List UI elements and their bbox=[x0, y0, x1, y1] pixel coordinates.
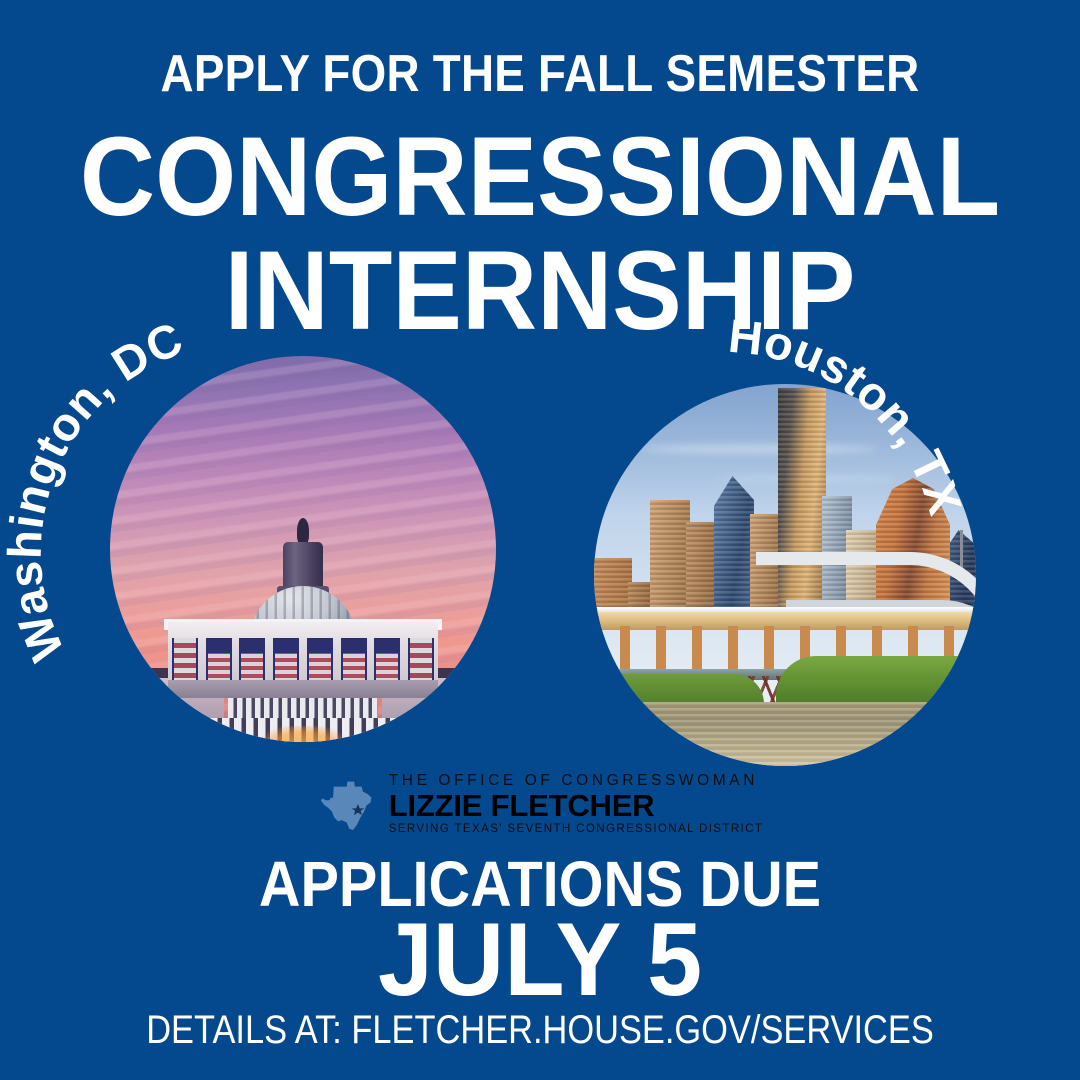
texas-shape bbox=[320, 782, 371, 830]
eyebrow-text: APPLY FOR THE FALL SEMESTER bbox=[65, 0, 1015, 100]
washington-dc-label-text: Washington, DC bbox=[0, 311, 190, 668]
houston-tx-label-text: Houston, TX bbox=[726, 309, 972, 521]
texas-state-icon bbox=[317, 773, 379, 835]
office-logo: THE OFFICE OF CONGRESSWOMAN LIZZIE FLETC… bbox=[340, 768, 740, 840]
logo-name-line: LIZZIE FLETCHER bbox=[389, 790, 655, 822]
due-date: JULY 5 bbox=[27, 908, 1053, 1012]
headline-block: APPLY FOR THE FALL SEMESTER CONGRESSIONA… bbox=[0, 0, 1080, 346]
washington-dc-curved-label: Washington, DC bbox=[18, 300, 488, 770]
internship-poster: APPLY FOR THE FALL SEMESTER CONGRESSIONA… bbox=[0, 0, 1080, 1080]
houston-tx-curved-label: Houston, TX bbox=[600, 296, 1070, 766]
logo-district-line: SERVING TEXAS' SEVENTH CONGRESSIONAL DIS… bbox=[389, 822, 764, 836]
title-line-1: CONGRESSIONAL bbox=[38, 100, 1042, 232]
details-url: DETAILS AT: FLETCHER.HOUSE.GOV/SERVICES bbox=[76, 1010, 1005, 1050]
